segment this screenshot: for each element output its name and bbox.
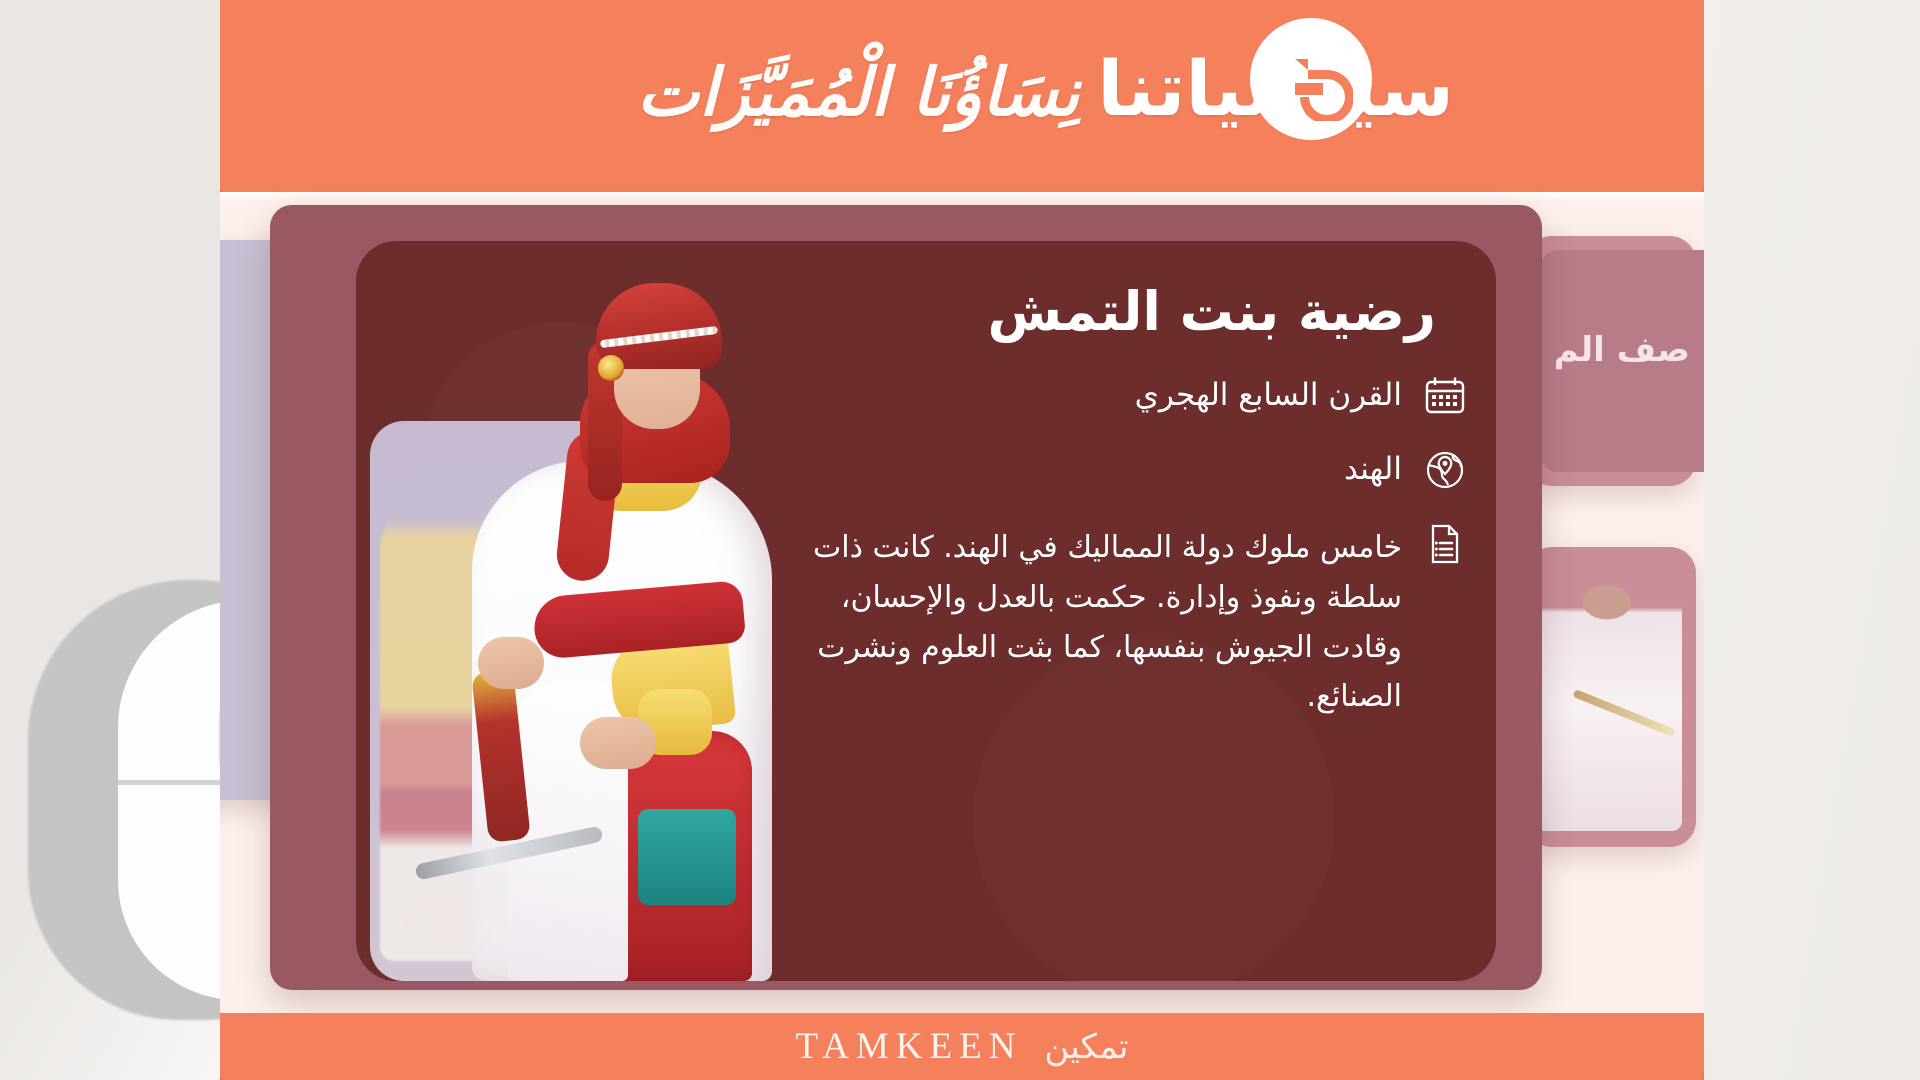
header-band: سياسياتنانِسَاؤُنَا الْمُمَيَّزَات	[220, 0, 1704, 192]
brand-wordmark-arabic: تمكين	[1044, 1027, 1128, 1067]
portrait-seat	[638, 809, 736, 905]
period-value: القرن السابع الهجري	[808, 371, 1402, 417]
description-text: خامس ملوك دولة المماليك في الهند. كانت ذ…	[808, 519, 1402, 722]
brand-wordmark: TAMKEEN	[796, 1025, 1023, 1068]
peek-card-right-top[interactable]: صف الم	[1526, 236, 1696, 486]
document-list-icon	[1422, 521, 1468, 567]
presentation-app: سياسياتنانِسَاؤُنَا الْمُمَيَّزَات صف ال…	[220, 0, 1704, 1080]
footer-brand: TAMKEEN تمكين	[220, 1013, 1704, 1080]
peek-card-right-top-label: صف الم	[1540, 324, 1690, 376]
desktop-right-strip	[1704, 0, 1920, 1080]
globe-location-pin-icon	[1422, 447, 1468, 493]
portrait-woman-figure	[462, 291, 782, 981]
portrait-hand-upper	[478, 637, 544, 689]
speaker-volume-icon[interactable]	[396, 879, 480, 957]
location-value: الهند	[808, 445, 1402, 491]
info-row-location: الهند	[808, 445, 1468, 493]
profile-card-inner: رضية بنت التمش	[356, 241, 1496, 981]
peek-card-right-bottom[interactable]	[1526, 547, 1696, 847]
content-top-highlight	[220, 192, 1704, 202]
profile-card[interactable]: رضية بنت التمش	[270, 205, 1542, 990]
screen: سياسياتنانِسَاؤُنَا الْمُمَيَّزَات صف ال…	[0, 0, 1920, 1080]
page-title: رضية بنت التمش	[808, 281, 1436, 343]
profile-text-column: رضية بنت التمش	[808, 281, 1468, 748]
calendar-icon	[1422, 373, 1468, 419]
info-row-period: القرن السابع الهجري	[808, 371, 1468, 419]
header-title-script: نِسَاؤُنَا الْمُمَيَّزَات	[637, 53, 1079, 131]
slide-content: صف الم	[220, 192, 1704, 1013]
portrait-jewel	[598, 355, 624, 381]
footer-band: TAMKEEN تمكين	[220, 1013, 1704, 1080]
tamkeen-tah-logo-icon[interactable]	[1250, 18, 1372, 140]
portrait-illustration	[370, 281, 790, 981]
info-row-description: خامس ملوك دولة المماليك في الهند. كانت ذ…	[808, 519, 1468, 722]
portrait-hand-lower	[580, 717, 656, 769]
